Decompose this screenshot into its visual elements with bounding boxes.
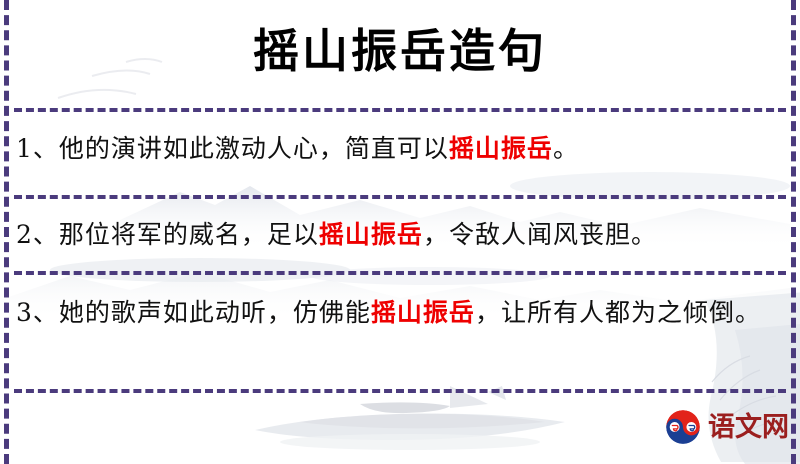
- sentence-index-3: 3、: [16, 298, 59, 327]
- divider-rule-4: [14, 389, 786, 393]
- site-logo-text: 语文网: [708, 414, 789, 441]
- site-logo[interactable]: 语文网: [664, 408, 789, 446]
- sentence-text-after-2: ，令敌人闻风丧胆。: [423, 220, 657, 249]
- sentence-text-before-3: 她的歌声如此动听，仿佛能: [59, 298, 371, 327]
- sentence-item-1: 1、他的演讲如此激动人心，简直可以摇山振岳。: [16, 128, 778, 170]
- divider-rule-1: [14, 108, 786, 112]
- frame-border-right: [791, 0, 796, 464]
- sentence-text-after-3: ，让所有人都为之倾倒。: [475, 298, 761, 327]
- sentence-text-before-2: 那位将军的威名，足以: [59, 220, 319, 249]
- sentence-item-3: 3、她的歌声如此动听，仿佛能摇山振岳，让所有人都为之倾倒。: [16, 292, 778, 334]
- idiom-highlight-2: 摇山振岳: [319, 220, 423, 249]
- sentence-text-after-1: 。: [553, 134, 579, 163]
- sentence-index-1: 1、: [16, 134, 59, 163]
- yuwen-circle-icon: [664, 408, 702, 446]
- idiom-highlight-3: 摇山振岳: [371, 298, 475, 327]
- divider-rule-2: [14, 195, 786, 199]
- frame-border-left: [4, 0, 9, 464]
- slide-page: 摇山振岳造句 1、他的演讲如此激动人心，简直可以摇山振岳。 2、那位将军的威名，…: [0, 0, 800, 464]
- sentence-index-2: 2、: [16, 220, 59, 249]
- idiom-highlight-1: 摇山振岳: [449, 134, 553, 163]
- divider-rule-3: [14, 271, 786, 275]
- sentence-text-before-1: 他的演讲如此激动人心，简直可以: [59, 134, 449, 163]
- page-title: 摇山振岳造句: [0, 24, 800, 79]
- sentence-item-2: 2、那位将军的威名，足以摇山振岳，令敌人闻风丧胆。: [16, 214, 778, 256]
